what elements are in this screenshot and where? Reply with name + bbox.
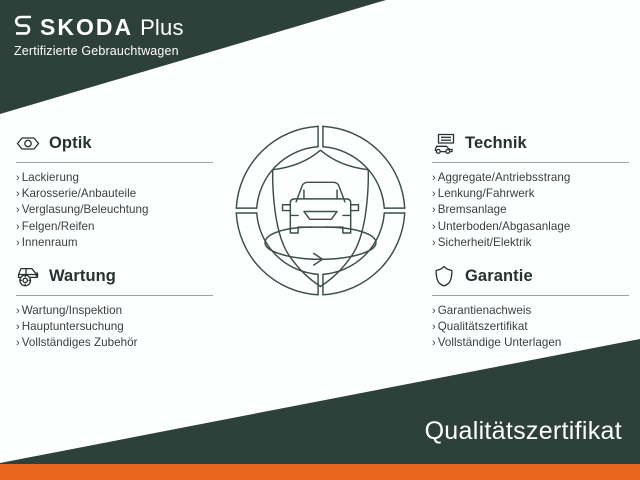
list-item-label: Lackierung <box>22 171 79 184</box>
list-item: ›Karosserie/Anbauteile <box>16 186 213 202</box>
list-item: ›Bremsanlage <box>432 202 629 218</box>
list-item: ›Hauptuntersuchung <box>16 319 213 335</box>
list-item-label: Vollständiges Zubehör <box>22 336 138 349</box>
chevron-right-icon: › <box>432 188 436 200</box>
chevron-right-icon: › <box>432 221 436 233</box>
chevron-right-icon: › <box>16 321 20 333</box>
section-technik-list: ›Aggregate/Antriebsstrang ›Lenkung/Fahrw… <box>432 170 629 251</box>
section-garantie: Garantie ›Garantienachweis ›Qualitätszer… <box>432 264 629 352</box>
shield-outline <box>273 150 369 286</box>
list-item: ›Vollständiges Zubehör <box>16 335 213 351</box>
footer-title: Qualitätszertifikat <box>425 419 622 444</box>
list-item-label: Wartung/Inspektion <box>22 304 122 317</box>
section-technik-divider <box>432 162 629 163</box>
chevron-right-icon: › <box>16 305 20 317</box>
section-technik-header: Technik <box>432 131 629 155</box>
chevron-right-icon: › <box>16 237 20 249</box>
chevron-right-icon: › <box>16 188 20 200</box>
brand-tagline: Zertifizierte Gebrauchtwagen <box>14 45 184 58</box>
car-engine-icon <box>432 132 456 154</box>
list-item: ›Vollständige Unterlagen <box>432 335 629 351</box>
eye-icon <box>16 132 40 154</box>
chevron-right-icon: › <box>16 172 20 184</box>
list-item-label: Bremsanlage <box>438 203 507 216</box>
car-front-icon <box>283 182 359 233</box>
chevron-right-icon: › <box>16 204 20 216</box>
list-item: ›Qualitätszertifikat <box>432 319 629 335</box>
brand-name-skoda: SKODA <box>40 16 133 39</box>
list-item-label: Vollständige Unterlagen <box>438 336 562 349</box>
list-item: ›Unterboden/Abgasanlage <box>432 219 629 235</box>
chevron-right-icon: › <box>432 237 436 249</box>
skoda-s-glyph-icon <box>14 14 33 35</box>
section-garantie-title: Garantie <box>465 268 533 285</box>
list-item-label: Sicherheit/Elektrik <box>438 236 532 249</box>
brand-logo-row: SKODA Plus <box>14 14 184 39</box>
car-service-icon <box>16 265 40 287</box>
section-wartung-list: ›Wartung/Inspektion ›Hauptuntersuchung ›… <box>16 303 213 352</box>
list-item-label: Innenraum <box>22 236 78 249</box>
list-item-label: Qualitätszertifikat <box>438 320 528 333</box>
list-item-label: Verglasung/Beleuchtung <box>22 203 149 216</box>
section-technik: Technik ›Aggregate/Antriebsstrang ›Lenku… <box>432 131 629 251</box>
section-optik-title: Optik <box>49 135 92 152</box>
section-optik-divider <box>16 162 213 163</box>
certificate-poster: SKODA Plus Zertifizierte Gebrauchtwagen <box>0 0 640 480</box>
section-optik: Optik ›Lackierung ›Karosserie/Anbauteile… <box>16 131 213 251</box>
certified-vehicle-emblem <box>228 118 413 308</box>
section-garantie-list: ›Garantienachweis ›Qualitätszertifikat ›… <box>432 303 629 352</box>
list-item-label: Hauptuntersuchung <box>22 320 124 333</box>
list-item: ›Sicherheit/Elektrik <box>432 235 629 251</box>
list-item: ›Aggregate/Antriebsstrang <box>432 170 629 186</box>
section-wartung-header: Wartung <box>16 264 213 288</box>
section-garantie-divider <box>432 295 629 296</box>
list-item-label: Garantienachweis <box>438 304 532 317</box>
orange-footer-bar <box>0 464 640 480</box>
section-technik-title: Technik <box>465 135 527 152</box>
brand-logo: SKODA Plus Zertifizierte Gebrauchtwagen <box>14 14 184 58</box>
list-item-label: Felgen/Reifen <box>22 220 95 233</box>
section-wartung-title: Wartung <box>49 268 116 285</box>
chevron-right-icon: › <box>432 337 436 349</box>
chevron-right-icon: › <box>432 321 436 333</box>
shield-icon <box>432 265 456 287</box>
chevron-right-icon: › <box>432 305 436 317</box>
chevron-right-icon: › <box>432 204 436 216</box>
section-wartung-divider <box>16 295 213 296</box>
list-item-label: Lenkung/Fahrwerk <box>438 187 535 200</box>
list-item: ›Wartung/Inspektion <box>16 303 213 319</box>
list-item: ›Innenraum <box>16 235 213 251</box>
chevron-right-icon: › <box>432 172 436 184</box>
brand-name-plus: Plus <box>140 17 184 39</box>
section-optik-list: ›Lackierung ›Karosserie/Anbauteile ›Verg… <box>16 170 213 251</box>
list-item: ›Felgen/Reifen <box>16 219 213 235</box>
inner-ring <box>257 147 385 275</box>
list-item: ›Lenkung/Fahrwerk <box>432 186 629 202</box>
section-garantie-header: Garantie <box>432 264 629 288</box>
outer-ring <box>236 126 404 294</box>
chevron-right-icon: › <box>16 337 20 349</box>
section-wartung: Wartung ›Wartung/Inspektion ›Hauptunters… <box>16 264 213 352</box>
list-item-label: Unterboden/Abgasanlage <box>438 220 571 233</box>
chevron-right-icon: › <box>16 221 20 233</box>
list-item: ›Garantienachweis <box>432 303 629 319</box>
list-item-label: Karosserie/Anbauteile <box>22 187 136 200</box>
list-item: ›Lackierung <box>16 170 213 186</box>
list-item: ›Verglasung/Beleuchtung <box>16 202 213 218</box>
list-item-label: Aggregate/Antriebsstrang <box>438 171 571 184</box>
section-optik-header: Optik <box>16 131 213 155</box>
